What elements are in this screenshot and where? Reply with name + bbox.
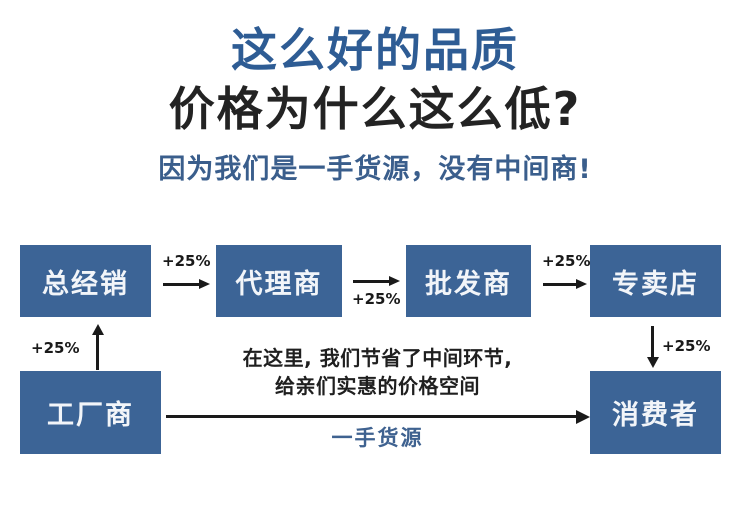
arrow-head [199,279,210,289]
markup-label-gongchangshang-to-zongjingxiao: +25% [31,339,79,357]
arrow-shaft [166,415,578,418]
source-label-first-hand: 一手货源 [175,424,580,452]
markup-label-zongjingxiao-to-dailishang: +25% [162,252,210,270]
markup-label-dailishang-to-pifashang: +25% [352,290,400,308]
arrow-head [647,357,659,368]
flow-box-zongjingxiao: 总经销 [20,245,151,317]
flow-box-pifashang: 批发商 [406,245,531,317]
arrow-shaft [96,334,99,370]
promo-poster: 这么好的品质 价格为什么这么低? 因为我们是一手货源，没有中间商! 总经销 代理… [0,0,750,511]
flow-box-zhuanmaidian: 专卖店 [590,245,721,317]
subtitle-first-hand-source: 因为我们是一手货源，没有中间商! [0,152,750,188]
arrow-head [576,279,587,289]
caption-line-better-price: 给亲们实惠的价格空间 [175,372,580,400]
arrow-head [389,276,400,286]
title-line-quality: 这么好的品质 [0,22,750,78]
arrow-shaft [543,283,577,286]
caption-line-saved-middlemen: 在这里, 我们节省了中间环节, [175,344,580,372]
flow-box-gongchangshang: 工厂商 [20,371,161,454]
flow-box-dailishang: 代理商 [216,245,342,317]
arrow-shaft [163,283,200,286]
arrow-shaft [651,326,654,359]
arrow-shaft [353,280,390,283]
arrow-head [92,324,104,335]
headline-block: 这么好的品质 价格为什么这么低? 因为我们是一手货源，没有中间商! [0,22,750,188]
flow-box-xiaofeizhe: 消费者 [590,371,721,454]
center-caption-block: 在这里, 我们节省了中间环节, 给亲们实惠的价格空间 [175,344,580,400]
markup-label-zhuanmaidian-to-xiaofeizhe: +25% [662,337,710,355]
markup-label-pifashang-to-zhuanmaidian: +25% [542,252,590,270]
arrow-head [576,410,590,424]
title-line-price-question: 价格为什么这么低? [0,80,750,138]
